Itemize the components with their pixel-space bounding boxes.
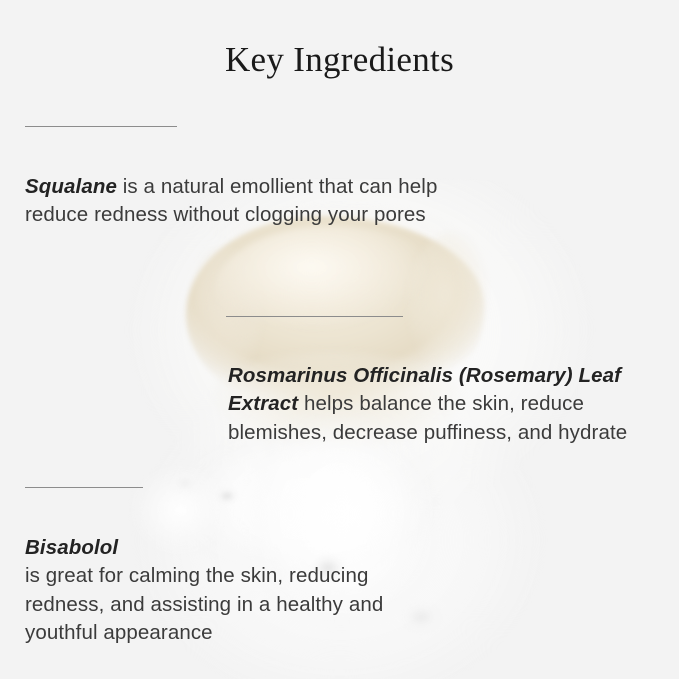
ingredient-block-squalane: Squalane is a natural emollient that can… bbox=[25, 144, 445, 230]
ingredients-infographic: Key Ingredients Squalane is a natural em… bbox=[0, 0, 679, 679]
ingredient-term-bisabolol: Bisabolol bbox=[25, 534, 445, 563]
copy-layer: Key Ingredients Squalane is a natural em… bbox=[0, 0, 679, 679]
page-title: Key Ingredients bbox=[0, 42, 679, 77]
ingredient-term-squalane: Squalane bbox=[25, 175, 117, 198]
ingredient-block-bisabolol: Bisabololis great for calming the skin, … bbox=[25, 505, 445, 648]
divider-rule-bisabolol bbox=[25, 487, 143, 488]
ingredient-block-rosemary: Rosmarinus Officinalis (Rosemary) Leaf E… bbox=[228, 333, 658, 447]
divider-rule-squalane bbox=[25, 126, 177, 127]
ingredient-description-bisabolol: is great for calming the skin, reducing … bbox=[25, 564, 383, 644]
divider-rule-rosemary bbox=[226, 316, 403, 317]
